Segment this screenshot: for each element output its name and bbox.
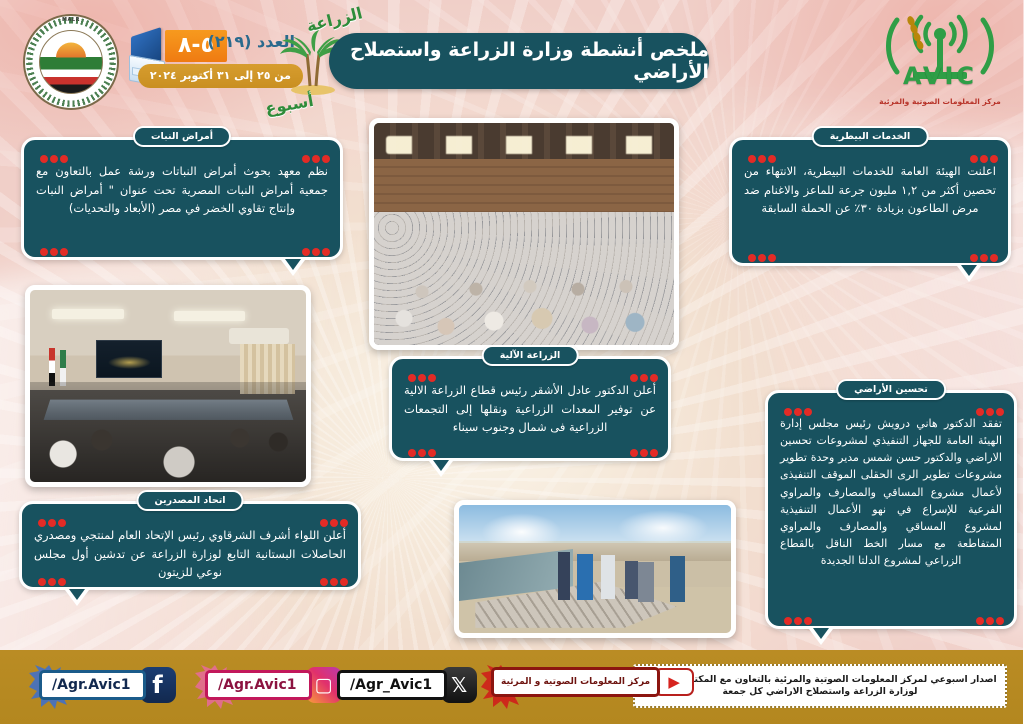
card-tail [810, 629, 834, 645]
youtube-handle: مركز المعلومات الصوتية و المرئية [492, 667, 661, 697]
card-pill-plant-diseases: أمراض النبات [134, 126, 232, 147]
card-body: أعلن الدكتور عادل الأشقر رئيس قطاع الزرا… [390, 356, 672, 461]
dots-bottom-right [315, 571, 349, 579]
logo-inner-emblem [40, 30, 104, 94]
dots-top-left [35, 148, 69, 156]
card-text: اعلنت الهيئة العامة للخدمات البيطرية، ال… [745, 162, 997, 218]
dots-bottom-left [403, 442, 437, 450]
page-footer: f /Agr.Avic1 ▢ /Agr.Avic1 𝕏 /Agr_Avic1 ▶… [0, 650, 1024, 724]
dots-top-right [297, 148, 331, 156]
dots-top-left [403, 367, 437, 375]
card-tail [958, 266, 982, 282]
social-link-x[interactable]: 𝕏 /Agr_Avic1 [338, 667, 478, 703]
card-body: نظم معهد بحوث أمراض النباتات ورشة عمل با… [22, 137, 344, 260]
page-header: MALR ٥-٨ العدد (٢١٩) من ٢٥ إلى ٣١ أكتوبر… [0, 0, 1024, 118]
social-link-instagram[interactable]: ▢ /Agr.Avic1 [206, 667, 343, 703]
card-veterinary-services: الخدمات البيطرية اعلنت الهيئة العامة للخ… [730, 126, 1012, 266]
dots-bottom-right [965, 247, 999, 255]
card-body: أعلن اللواء أشرف الشرقاوي رئيس الإتحاد ا… [20, 501, 362, 590]
card-tail [66, 590, 90, 606]
dots-bottom-left [35, 241, 69, 249]
dots-top-right [971, 401, 1005, 409]
card-tail [430, 461, 454, 477]
sun-icon [57, 42, 87, 57]
social-link-facebook[interactable]: f /Agr.Avic1 [40, 667, 177, 703]
dots-top-left [33, 512, 67, 520]
photo-canal-inspection [455, 500, 737, 638]
card-pill-exporters: اتحاد المصدرين [137, 490, 244, 511]
card-tail [282, 260, 306, 276]
dots-top-left [779, 401, 813, 409]
youtube-icon: ▶ [655, 668, 695, 696]
card-text: نظم معهد بحوث أمراض النباتات ورشة عمل با… [37, 162, 329, 218]
dots-top-left [743, 148, 777, 156]
card-text: أعلن الدكتور عادل الأشقر رئيس قطاع الزرا… [405, 381, 657, 437]
dots-bottom-right [625, 442, 659, 450]
card-body: تفقد الدكتور هاني درويش رئيس مجلس إدارة … [766, 390, 1018, 629]
card-plant-diseases: أمراض النبات نظم معهد بحوث أمراض النباتا… [22, 126, 344, 260]
ministry-logo-text: MALR [24, 17, 120, 23]
facebook-handle: /Agr.Avic1 [40, 670, 147, 700]
dots-bottom-left [33, 571, 67, 579]
x-handle: /Agr_Avic1 [338, 670, 448, 700]
page-title: ملخص أنشطة وزارة الزراعة واستصلاح الأراض… [330, 33, 710, 89]
card-land-improvement: تحسين الأراضي تفقد الدكتور هاني درويش رئ… [766, 379, 1018, 629]
dots-bottom-right [971, 610, 1005, 618]
avic-wordmark: AVIC [880, 62, 1002, 90]
dots-top-right [965, 148, 999, 156]
dots-bottom-left [779, 610, 813, 618]
palm-bottom-word: أسبوع [265, 91, 316, 118]
photo-council-meeting [26, 285, 312, 487]
card-pill-veterinary: الخدمات البيطرية [813, 126, 930, 147]
dots-bottom-right [297, 241, 331, 249]
card-body: اعلنت الهيئة العامة للخدمات البيطرية، ال… [730, 137, 1012, 266]
card-mechanized-agriculture: الزراعة الآلية أعلن الدكتور عادل الأشقر … [390, 345, 672, 461]
ministry-logo: MALR [24, 14, 120, 110]
dots-bottom-left [743, 247, 777, 255]
card-pill-mechanized: الزراعة الآلية [483, 345, 580, 366]
card-text: أعلن اللواء أشرف الشرقاوي رئيس الإتحاد ا… [35, 526, 347, 582]
card-text: تفقد الدكتور هاني درويش رئيس مجلس إدارة … [781, 415, 1003, 569]
card-exporters-union: اتحاد المصدرين أعلن اللواء أشرف الشرقاوي… [20, 490, 362, 590]
instagram-handle: /Agr.Avic1 [206, 670, 313, 700]
social-link-youtube[interactable]: ▶ مركز المعلومات الصوتية و المرئية [492, 667, 695, 697]
dots-top-right [625, 367, 659, 375]
photo-conference-hall [370, 118, 680, 350]
avic-subtitle: مركز المعلومات الصوتية والمرئية [880, 97, 1002, 106]
card-pill-land-improvement: تحسين الأراضي [837, 379, 947, 400]
avic-logo: AVIC مركز المعلومات الصوتية والمرئية [880, 8, 1002, 112]
dots-top-right [315, 512, 349, 520]
